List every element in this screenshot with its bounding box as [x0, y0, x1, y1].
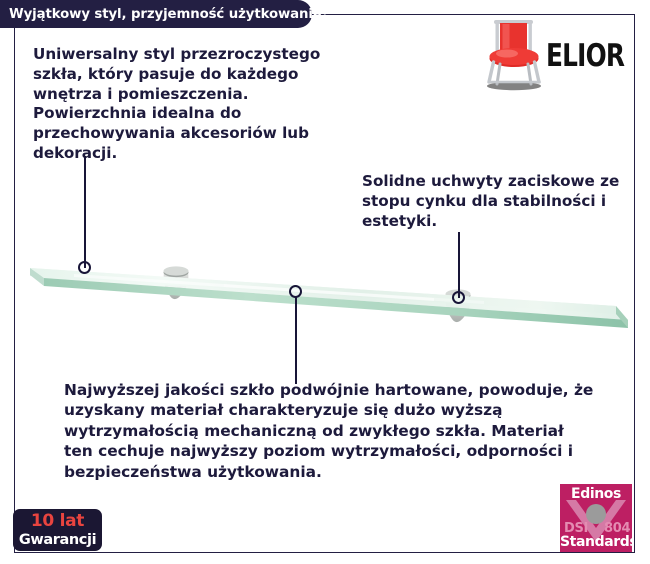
callout-line-clamp-brackets [458, 232, 460, 298]
callout-dot-glass-strength[interactable] [289, 285, 302, 298]
brand-logo: ELIOR [483, 16, 633, 92]
callout-dot-clamp-brackets[interactable] [452, 291, 465, 304]
red-chair-icon [483, 16, 545, 92]
callout-dot-glass-style[interactable] [78, 261, 91, 274]
frame-rule-top [308, 14, 635, 15]
feature-text-tempered-glass: Najwyższej jakości szkło podwójnie harto… [64, 380, 594, 482]
callout-line-glass-style [84, 156, 86, 268]
feature-text-brackets: Solidne uchwyty zaciskowe ze stopu cynku… [362, 172, 624, 231]
standards-badge: Edinos DSI 804 Standards [560, 484, 632, 552]
product-info-card: Wyjątkowy styl, przyjemność użytkowania!… [0, 0, 650, 564]
standards-label: Standards [560, 534, 632, 550]
glass-shelf-illustration [14, 248, 634, 353]
frame-rule-right [634, 14, 635, 553]
callout-line-glass-strength [295, 296, 297, 384]
product-image-glass-shelf [14, 248, 634, 353]
warranty-years: 10 lat [31, 513, 84, 530]
headline-text: Wyjątkowy styl, przyjemność użytkowania! [0, 7, 328, 22]
brand-wordmark: ELIOR [546, 38, 624, 74]
headline-banner: Wyjątkowy styl, przyjemność użytkowania! [0, 0, 312, 28]
feature-text-style: Uniwersalny styl przezroczystego szkła, … [33, 45, 343, 164]
warranty-badge: 10 lat Gwarancji [13, 509, 102, 551]
frame-rule-bottom [14, 552, 635, 553]
warranty-label: Gwarancji [19, 533, 96, 548]
